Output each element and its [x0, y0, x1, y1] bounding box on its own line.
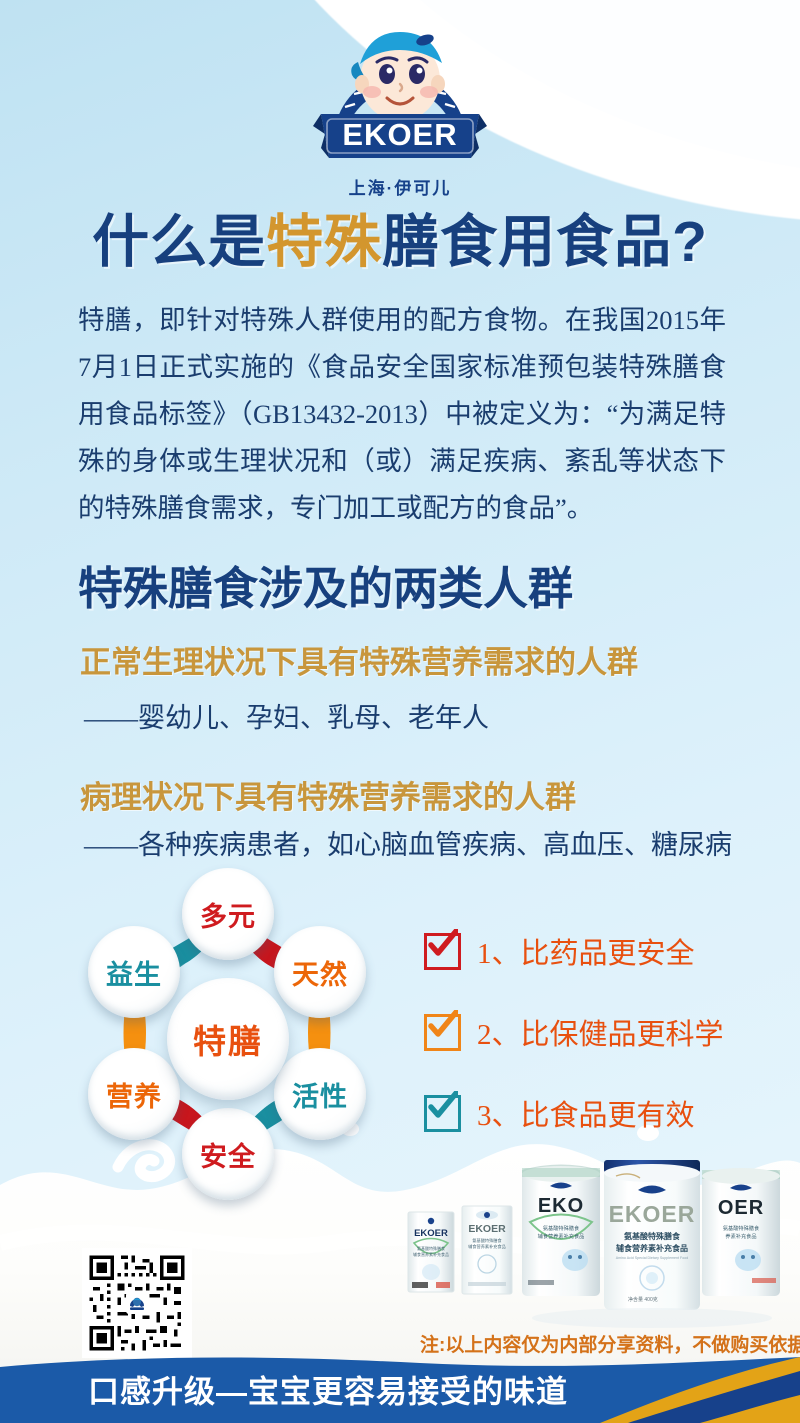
checklist-item-3[interactable]: 3、比食品更有效 [424, 1092, 724, 1134]
group-heading-physiological: 正常生理状况下具有特殊营养需求的人群 [80, 637, 638, 682]
svg-text:辅食营养素补充食品: 辅食营养素补充食品 [413, 1251, 449, 1257]
petal-duoyuan: 多元 [182, 868, 274, 960]
group-detail-physiological: ——婴幼儿、孕妇、乳母、老年人 [84, 696, 489, 735]
petal-huoxing: 活性 [274, 1048, 366, 1140]
svg-text:氨基酸特殊膳食: 氨基酸特殊膳食 [723, 1224, 760, 1232]
product-can-center: EKOER 氨基酸特殊膳食 辅食营养素补充食品 Amino Acid Speci… [604, 1160, 700, 1310]
checklist-item-1[interactable]: 1、比药品更安全 [424, 930, 724, 972]
product-can-right: OER 氨基酸特殊膳食 养素补充食品 [702, 1168, 780, 1296]
svg-text:EKOER: EKOER [468, 1223, 506, 1235]
petal-label: 营养 [106, 1075, 162, 1114]
petal-label: 益生 [106, 953, 162, 992]
section-two-title: 特殊膳食涉及的两类人群 [78, 552, 573, 617]
checklist-item-2[interactable]: 2、比保健品更科学 [424, 1011, 724, 1053]
svg-text:净含量 400克: 净含量 400克 [628, 1296, 658, 1303]
banner-slogan: 口感升级—宝宝更容易接受的味道 [88, 1367, 568, 1412]
svg-text:OER: OER [718, 1197, 764, 1219]
petal-tianran: 天然 [274, 926, 366, 1018]
benefits-hexagon-diagram: 多元 天然 活性 安全 营养 益生 特膳 [58, 868, 398, 1208]
advantages-checklist: 1、比药品更安全 2、比保健品更科学 3、比食品更有效 [424, 930, 724, 1173]
page-title-highlight: 特殊 [266, 210, 382, 274]
petal-yingyang: 营养 [88, 1048, 180, 1140]
petal-center-teshan: 特膳 [167, 978, 289, 1100]
checkmark-icon[interactable] [424, 933, 461, 970]
checklist-item-label: 2、比保健品更科学 [477, 1011, 724, 1053]
logo-subtitle: 上海·伊可儿 [305, 174, 495, 199]
petal-anquan: 安全 [182, 1108, 274, 1200]
checklist-item-label: 1、比药品更安全 [477, 930, 695, 972]
page-title-suffix: 膳食用食品? [382, 210, 708, 274]
svg-text:氨基酸特殊膳食: 氨基酸特殊膳食 [543, 1224, 580, 1232]
qr-center-brand-icon [126, 1292, 148, 1314]
product-box-small-2: EKOER 氨基酸特殊膳食 辅食营养素补充食品 [462, 1206, 512, 1294]
group-heading-pathological: 病理状况下具有特殊营养需求的人群 [80, 772, 576, 817]
svg-text:辅食营养素补充食品: 辅食营养素补充食品 [538, 1232, 585, 1240]
svg-text:养素补充食品: 养素补充食品 [725, 1232, 756, 1240]
petal-center-label: 特膳 [193, 1015, 263, 1063]
petal-label: 天然 [292, 953, 348, 992]
logo-brand-text: EKOER [342, 117, 457, 152]
checklist-item-label: 3、比食品更有效 [477, 1092, 695, 1134]
svg-text:氨基酸特殊膳食: 氨基酸特殊膳食 [624, 1231, 681, 1241]
brand-mascot-logo-icon: EKOER [305, 8, 495, 180]
page-title-prefix: 什么是 [92, 210, 266, 274]
svg-text:氨基酸特殊膳食: 氨基酸特殊膳食 [417, 1245, 445, 1251]
product-can-left: EKO 氨基酸特殊膳食 辅食营养素补充食品 [522, 1165, 600, 1297]
bottom-banner: 口感升级—宝宝更容易接受的味道 [0, 1355, 800, 1423]
svg-text:EKOER: EKOER [609, 1201, 696, 1227]
petal-label: 多元 [200, 895, 256, 934]
svg-text:氨基酸特殊膳食: 氨基酸特殊膳食 [472, 1237, 502, 1244]
svg-text:辅食营养素补充食品: 辅食营养素补充食品 [616, 1243, 688, 1253]
petal-yisheng: 益生 [88, 926, 180, 1018]
svg-text:辅食营养素补充食品: 辅食营养素补充食品 [468, 1243, 506, 1250]
qr-code[interactable] [82, 1248, 192, 1358]
svg-text:Amino Acid Special Dietary Sup: Amino Acid Special Dietary Supplement Fo… [616, 1256, 689, 1260]
checkmark-icon[interactable] [424, 1095, 461, 1132]
disclaimer-note: 注:以上内容仅为内部分享资料，不做购买依据。 [420, 1330, 800, 1357]
product-lineup-image: EKOER 氨基酸特殊膳食 辅食营养素补充食品 EKOER 氨基酸特殊膳食 辅食… [400, 1160, 800, 1345]
checkmark-icon[interactable] [424, 1014, 461, 1051]
petal-label: 活性 [292, 1075, 348, 1114]
definition-paragraph: 特膳，即针对特殊人群使用的配方食物。在我国2015年7月1日正式实施的《食品安全… [78, 297, 726, 532]
group-detail-pathological: ——各种疾病患者，如心脑血管疾病、高血压、糖尿病 [84, 823, 732, 862]
page-title: 什么是特殊膳食用食品? [0, 196, 800, 278]
svg-text:EKOER: EKOER [414, 1228, 448, 1239]
product-box-small-1: EKOER 氨基酸特殊膳食 辅食营养素补充食品 [408, 1212, 454, 1292]
petal-label: 安全 [200, 1135, 256, 1174]
brand-logo: EKOER 上海·伊可儿 [305, 8, 495, 180]
